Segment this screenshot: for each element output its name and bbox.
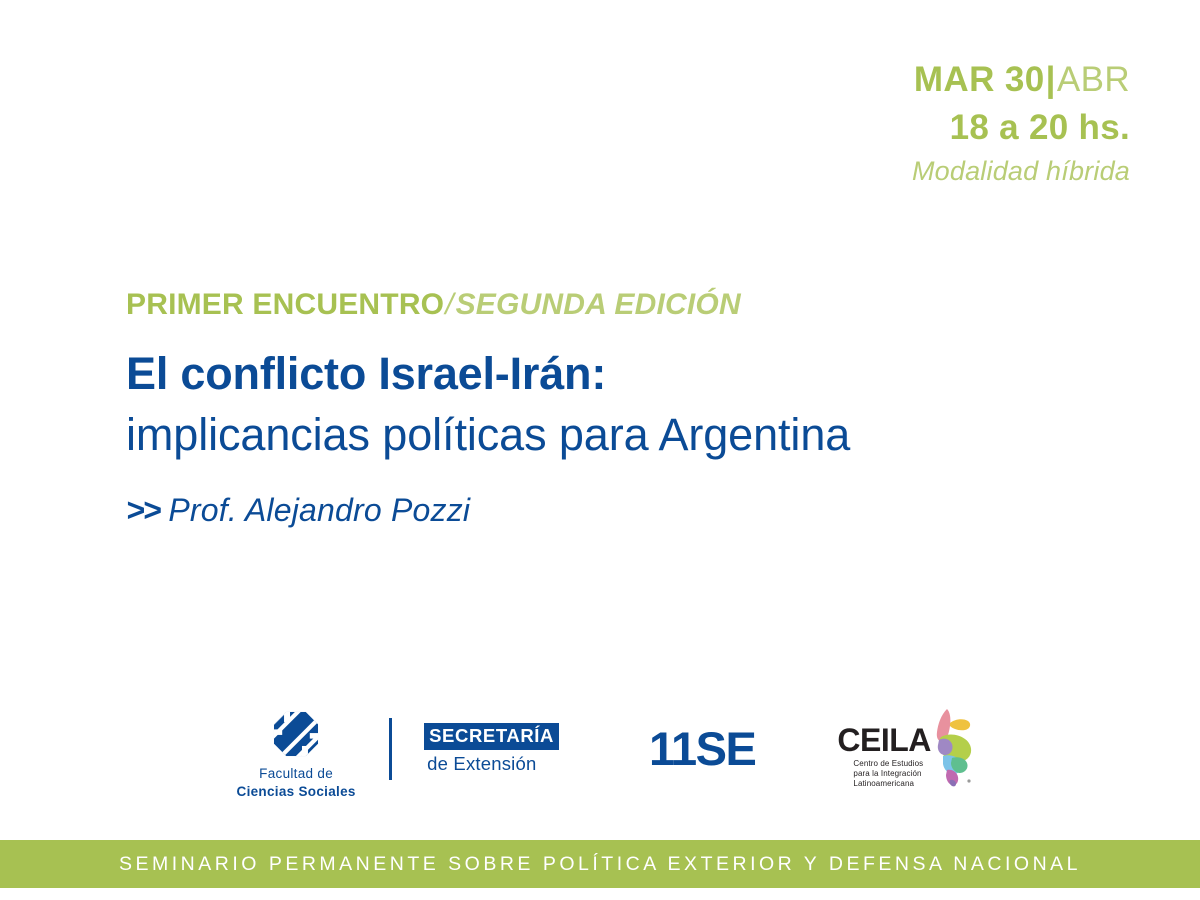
eyebrow-primary: PRIMER ENCUENTRO [126, 288, 444, 321]
logo-secretaria-extension: SECRETARÍA de Extensión [424, 723, 559, 775]
secretaria-label-line1: SECRETARÍA [424, 723, 559, 750]
eyebrow-slash: / [444, 288, 455, 321]
page-title-line2: implicancias políticas para Argentina [126, 411, 1126, 458]
latin-america-map-icon [917, 706, 979, 793]
speaker-line: >>Prof. Alejandro Pozzi [126, 492, 1126, 529]
speaker-name: Prof. Alejandro Pozzi [168, 492, 470, 528]
session-eyebrow: PRIMER ENCUENTRO/SEGUNDA EDICIÓN [126, 288, 1126, 321]
event-modality: Modalidad híbrida [912, 158, 1130, 185]
event-date-secondary: ABR [1057, 60, 1130, 99]
secretaria-label-line2: de Extensión [424, 753, 559, 775]
event-date-primary: MAR 30 [914, 60, 1045, 99]
banner-text: SEMINARIO PERMANENTE SOBRE POLÍTICA EXTE… [119, 853, 1081, 876]
poster-content: PRIMER ENCUENTRO/SEGUNDA EDICIÓN El conf… [126, 288, 1126, 529]
logo-ceila: CEILA Centro de Estudios para la Integra… [837, 708, 979, 793]
date-separator: | [1045, 60, 1057, 99]
logo-divider [389, 718, 392, 780]
sociales-badge-icon [273, 711, 319, 762]
bottom-banner: SEMINARIO PERMANENTE SOBRE POLÍTICA EXTE… [0, 840, 1200, 888]
logo-strip: Facultad de Ciencias Sociales SECRETARÍA… [0, 700, 1200, 810]
logo-facultad-ciencias-sociales: Facultad de Ciencias Sociales [221, 711, 371, 799]
faculty-label-line2: Ciencias Sociales [237, 784, 356, 799]
event-date-line: MAR 30|ABR [912, 62, 1130, 97]
event-time: 18 a 20 hs. [912, 110, 1130, 145]
faculty-label-line1: Facultad de [259, 766, 333, 781]
chevrons-right-icon: >> [126, 492, 168, 528]
page-title-line1: El conflicto Israel-Irán: [126, 350, 1126, 397]
eyebrow-secondary: SEGUNDA EDICIÓN [456, 288, 741, 321]
event-date-block: MAR 30|ABR 18 a 20 hs. Modalidad híbrida [912, 62, 1130, 185]
logo-11se: 11SE [649, 721, 755, 776]
